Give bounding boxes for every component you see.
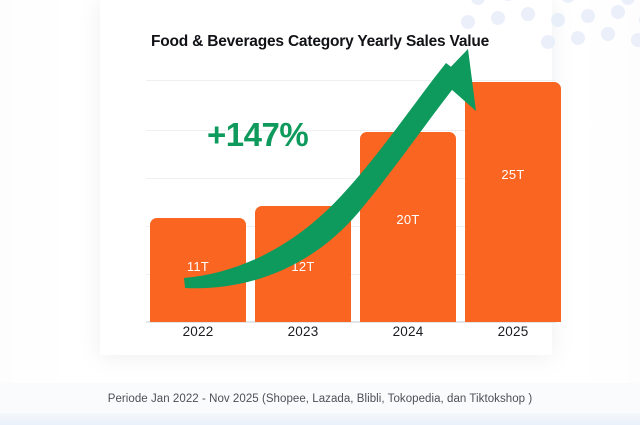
bar-group-2025[interactable]: 25T [465,60,561,322]
x-axis-tick-2022: 2022 [150,324,246,339]
bar-group-2022[interactable]: 11T [150,60,246,322]
bar-value-label: 25T [465,167,561,182]
bar-rect[interactable] [465,82,561,322]
bar-group-2023[interactable]: 12T [255,60,351,322]
x-axis-tick-2024: 2024 [360,324,456,339]
dot-pattern-icon [460,0,640,62]
bar-value-label: 12T [255,259,351,274]
bar-rect[interactable] [360,132,456,322]
footer-note: Periode Jan 2022 - Nov 2025 (Shopee, Laz… [0,393,640,405]
growth-percent-label: +147% [207,116,308,154]
chart-title: Food & Beverages Category Yearly Sales V… [0,33,640,51]
x-axis-tick-2025: 2025 [465,324,561,339]
right-fade-edge [552,0,640,425]
x-axis: 2022 2023 2024 2025 [146,324,556,346]
bars-layer: 11T 12T 20T 25T [146,60,556,322]
bottom-strip [0,413,640,425]
plot-area: 11T 12T 20T 25T [146,60,556,322]
bar-value-label: 11T [150,259,246,274]
x-axis-tick-2023: 2023 [255,324,351,339]
left-fade-edge [0,0,101,425]
bar-group-2024[interactable]: 20T [360,60,456,322]
bar-value-label: 20T [360,212,456,227]
